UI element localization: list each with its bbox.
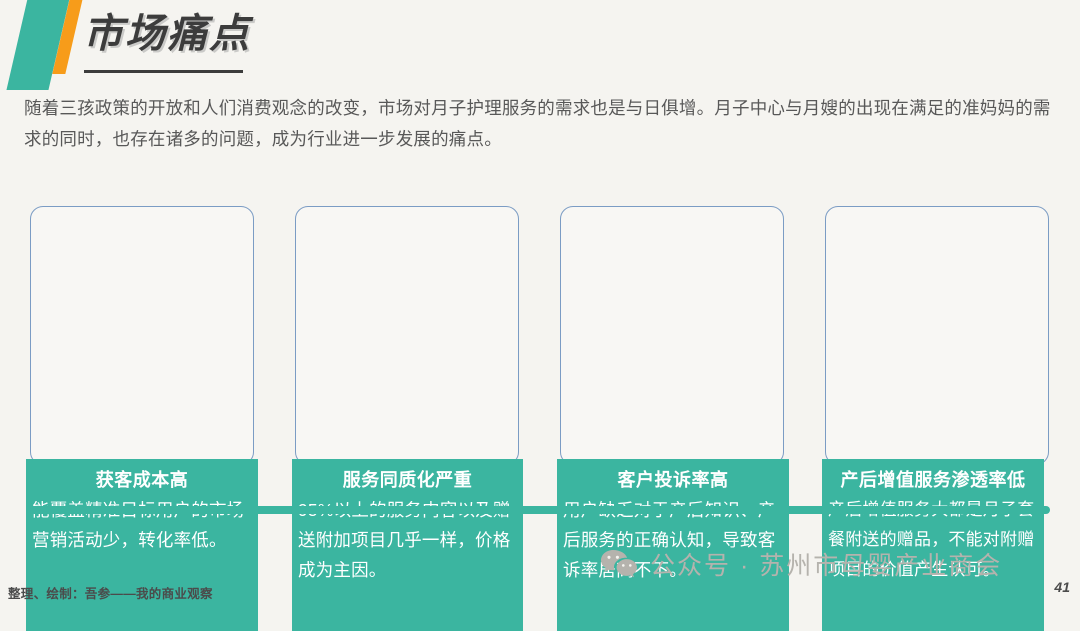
pain-point-card-group: 获客成本高 能覆盖精准目标用户的市场营销活动少，转化率低。 服务同质化严重 95… [0,206,1080,468]
pain-point-card-band: 获客成本高 能覆盖精准目标用户的市场营销活动少，转化率低。 [26,459,258,631]
credit-text: 整理、绘制：吾参——我的商业观察 [8,583,213,602]
card-title: 产后增值服务渗透率低 [828,465,1038,495]
title-underline [84,70,243,73]
slide: 市场痛点 随着三孩政策的开放和人们消费观念的改变，市场对月子护理服务的需求也是与… [0,0,1080,608]
pain-point-card-band: 产后增值服务渗透率低 产后增值服务大都是月子套餐附送的赠品，不能对附赠项目的价值… [822,459,1044,631]
pain-point-card-band: 客户投诉率高 用户缺乏对于产后知识、产后服务的正确认知，导致客诉率居高不下。 [557,459,789,631]
pain-point-card[interactable] [295,206,519,465]
page-number: 41 [1054,579,1070,595]
wechat-icon [600,549,638,579]
page-title: 市场痛点 [83,14,251,54]
card-title: 客户投诉率高 [563,465,783,495]
pain-point-card[interactable] [560,206,784,465]
pain-point-card[interactable] [30,206,254,465]
card-title: 服务同质化严重 [298,465,517,495]
wechat-label: 公众号 · 苏州市母婴产业商会 [650,546,1002,582]
intro-paragraph: 随着三孩政策的开放和人们消费观念的改变，市场对月子护理服务的需求也是与日俱增。月… [24,93,1054,155]
pain-point-card-band: 服务同质化严重 95%以上的服务内容以及赠送附加项目几乎一样，价格成为主因。 [292,459,523,631]
pain-point-card[interactable] [825,206,1049,465]
card-title: 获客成本高 [32,465,252,495]
wechat-attribution: 公众号 · 苏州市母婴产业商会 [600,546,1002,582]
footer-divider [30,506,1050,514]
card-body: 能覆盖精准目标用户的市场营销活动少，转化率低。 [32,495,252,555]
